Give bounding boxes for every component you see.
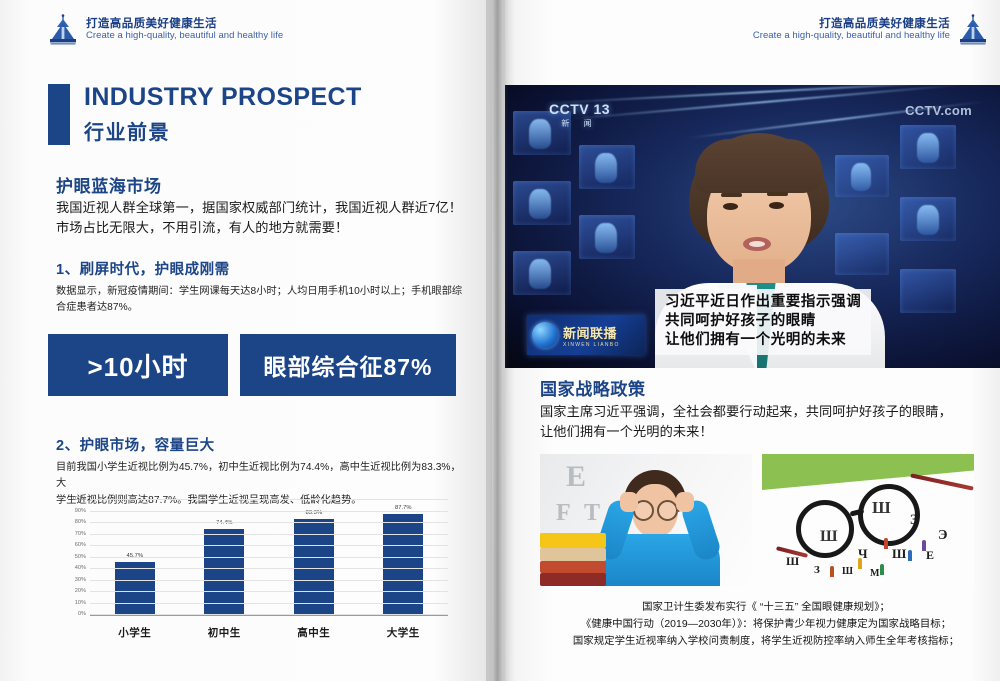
section1-heading: 1、刷屏时代，护眼成刚需 — [56, 258, 230, 279]
chart-y-tick-label: 50% — [75, 554, 86, 560]
chart-gridline: 70% — [90, 534, 448, 535]
chart-x-label: 小学生 — [90, 625, 180, 640]
xinwen-lianbo-logo: 新闻联播 XINWEN LIANBO — [527, 315, 645, 355]
chart-gridline: 50% — [90, 557, 448, 558]
policy-heading: 国家战略政策 — [540, 375, 646, 400]
brand-header-right: 打造高品质美好健康生活 Create a high-quality, beaut… — [753, 14, 988, 46]
page-title-cn: 行业前景 — [84, 116, 362, 145]
books-stack — [540, 532, 606, 586]
chart-y-tick-label: 30% — [75, 577, 86, 583]
stat-box-group: >10小时 眼部综合征87% — [48, 334, 456, 396]
news-subtitle-line-2: 共同呵护好孩子的眼睛 — [665, 312, 861, 331]
section2-line-1: 目前我国小学生近视比例为45.7%，初中生近视比例为74.4%，高中生近视比例为… — [56, 460, 466, 493]
chart-bar-cell: 45.7% — [90, 500, 180, 615]
chart-y-tick-label: 70% — [75, 531, 86, 537]
chart-gridline: 10% — [90, 603, 448, 604]
cctv-news-screenshot: CCTV 13 新 闻 CCTV.com 新闻联播 XINWEN LIANBO — [505, 85, 1000, 368]
chart-gridline: 0% — [90, 614, 448, 615]
section1-paragraph: 数据显示，新冠疫情期间：学生网课每天达8小时；人均日用手机10小时以上；手机眼部… — [56, 284, 466, 317]
policy-line-1: 国家主席习近平强调，全社会都要行动起来，共同呵护好孩子的眼睛， — [540, 402, 992, 422]
cctv-channel-logo: CCTV 13 新 闻 — [549, 101, 610, 129]
brand-title-en: Create a high-quality, beautiful and hea… — [753, 31, 950, 42]
intro-heading: 护眼蓝海市场 — [56, 172, 162, 197]
stat-box-eye-syndrome: 眼部综合征87% — [240, 334, 456, 396]
page-title-block: INDUSTRY PROSPECT 行业前景 — [48, 84, 362, 145]
factory-logo-icon — [48, 14, 78, 46]
policy-notes: 国家卫计生委发布实行《 “十三五” 全国眼健康规划》； 《健康中国行动（2019… — [540, 600, 992, 651]
brand-title-en: Create a high-quality, beautiful and hea… — [86, 31, 283, 42]
intro-line-2: 市场占比无限大，不用引流，有人的地方就需要！ — [56, 218, 466, 238]
factory-logo-icon — [958, 14, 988, 46]
policy-line-2: 让他们拥有一个光明的未来！ — [540, 422, 992, 442]
policy-note-2: 《健康中国行动（2019—2030年）》：将保护青少年视力健康定为国家战略目标； — [540, 617, 992, 634]
magazine-spread: 打造高品质美好健康生活 Create a high-quality, beaut… — [0, 0, 1000, 681]
globe-icon — [532, 322, 558, 348]
cctv-channel-sub: 新 闻 — [549, 118, 610, 129]
news-subtitle-band: 习近平近日作出重要指示强调 共同呵护好孩子的眼睛 让他们拥有一个光明的未来 — [655, 289, 871, 355]
news-subtitle-line-3: 让他们拥有一个光明的未来 — [665, 331, 861, 350]
program-name-en: XINWEN LIANBO — [563, 342, 620, 348]
chart-y-tick-label: 0% — [78, 611, 86, 617]
chart-bars: 45.7%74.4%83.3%87.7% — [90, 500, 448, 615]
photo-row: E F T P T E P Ш — [540, 454, 974, 586]
page-title-en: INDUSTRY PROSPECT — [84, 84, 362, 112]
chart-x-label: 大学生 — [359, 625, 449, 640]
brand-header-left: 打造高品质美好健康生活 Create a high-quality, beaut… — [48, 14, 283, 46]
chart-gridline: 40% — [90, 568, 448, 569]
intro-line-1: 我国近视人群全球第一，据国家权威部门统计，我国近视人群近7亿！ — [56, 198, 466, 218]
chart-gridline: 30% — [90, 580, 448, 581]
chart-y-tick-label: 100% — [72, 496, 86, 502]
chart-x-label: 高中生 — [269, 625, 359, 640]
policy-note-3: 国家规定学生近视率纳入学校问责制度，将学生近视防控率纳入师生全年考核指标； — [540, 634, 992, 651]
chart-y-tick-label: 10% — [75, 600, 86, 606]
chart-y-tick-label: 80% — [75, 519, 86, 525]
chart-bar-cell: 83.3% — [269, 500, 359, 615]
chart-gridline: 80% — [90, 522, 448, 523]
glasses-on-eye-chart-photo: Ш З Ш Э Ч Ш Е Ш З Ш М — [762, 454, 974, 586]
program-name-cn: 新闻联播 — [563, 323, 620, 342]
policy-paragraph: 国家主席习近平强调，全社会都要行动起来，共同呵护好孩子的眼睛， 让他们拥有一个光… — [540, 402, 992, 443]
chart-plot-area: 45.7%74.4%83.3%87.7% 0%10%20%30%40%50%60… — [90, 500, 448, 616]
cctv-channel-name: CCTV 13 — [549, 101, 610, 117]
policy-note-1: 国家卫计生委发布实行《 “十三五” 全国眼健康规划》； — [540, 600, 992, 617]
boy-with-glasses-eye-chart-photo: E F T P T E P — [540, 454, 752, 586]
chart-gridline: 100% — [90, 499, 448, 500]
title-accent-bar — [48, 84, 70, 145]
chart-bar-cell: 87.7% — [359, 500, 449, 615]
chart-gridline: 20% — [90, 591, 448, 592]
chart-y-tick-label: 60% — [75, 542, 86, 548]
chart-gridline: 60% — [90, 545, 448, 546]
section1-line-1: 数据显示，新冠疫情期间：学生网课每天达8小时；人均日用手机10小时以上；手机眼部… — [56, 284, 466, 300]
chart-y-tick-label: 20% — [75, 588, 86, 594]
news-subtitle-line-1: 习近平近日作出重要指示强调 — [665, 293, 861, 312]
left-page: 打造高品质美好健康生活 Create a high-quality, beaut… — [0, 0, 492, 681]
section2-heading: 2、护眼市场，容量巨大 — [56, 434, 215, 455]
chart-bar — [115, 562, 155, 615]
stat-box-screen-time: >10小时 — [48, 334, 228, 396]
cctv-watermark: CCTV.com — [905, 103, 972, 118]
myopia-rate-bar-chart: 45.7%74.4%83.3%87.7% 0%10%20%30%40%50%60… — [56, 496, 452, 644]
section1-line-2: 合症患者达87%。 — [56, 300, 466, 316]
chart-x-label: 初中生 — [180, 625, 270, 640]
chart-bar-cell: 74.4% — [180, 500, 270, 615]
chart-x-axis-labels: 小学生初中生高中生大学生 — [90, 625, 448, 640]
chart-y-tick-label: 90% — [75, 508, 86, 514]
intro-paragraph: 我国近视人群全球第一，据国家权威部门统计，我国近视人群近7亿！ 市场占比无限大，… — [56, 198, 466, 239]
chart-gridline: 90% — [90, 511, 448, 512]
chart-bar — [383, 514, 423, 615]
chart-y-tick-label: 40% — [75, 565, 86, 571]
